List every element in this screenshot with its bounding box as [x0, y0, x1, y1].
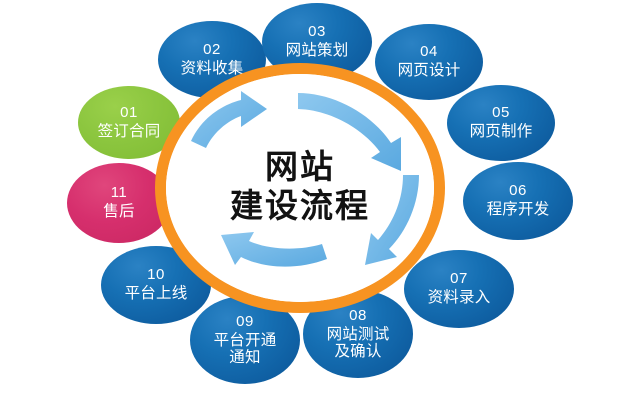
diagram-canvas: 01签订合同02资料收集03网站策划04网页设计05网页制作06程序开发07资料… — [0, 0, 640, 401]
process-node-label: 网站策划 — [286, 42, 349, 59]
process-node-label: 售后 — [103, 203, 134, 220]
page-title: 网站 建设流程 — [190, 148, 410, 226]
process-node-number: 10 — [147, 267, 165, 284]
process-node-04[interactable]: 04网页设计 — [375, 24, 483, 100]
process-node-label: 网页设计 — [398, 62, 461, 79]
process-node-number: 01 — [120, 105, 138, 122]
process-node-label: 网页制作 — [470, 123, 533, 140]
process-node-label: 网站测试 及确认 — [327, 326, 390, 361]
process-node-06[interactable]: 06程序开发 — [463, 162, 573, 240]
process-node-number: 04 — [420, 44, 438, 61]
process-node-number: 02 — [203, 42, 221, 59]
process-node-number: 05 — [492, 105, 510, 122]
process-node-label: 资料收集 — [181, 60, 244, 77]
process-node-number: 06 — [509, 183, 527, 200]
process-node-07[interactable]: 07资料录入 — [404, 250, 514, 328]
process-node-number: 03 — [308, 24, 326, 41]
process-node-label: 资料录入 — [428, 289, 491, 306]
process-node-number: 11 — [111, 185, 128, 202]
process-node-number: 07 — [450, 271, 468, 288]
process-node-label: 签订合同 — [98, 123, 161, 140]
process-node-number: 09 — [236, 314, 254, 331]
process-node-label: 平台开通 通知 — [214, 332, 277, 367]
process-node-number: 08 — [349, 308, 367, 325]
process-node-05[interactable]: 05网页制作 — [447, 85, 555, 161]
process-node-label: 程序开发 — [487, 201, 550, 218]
process-node-label: 平台上线 — [125, 285, 188, 302]
